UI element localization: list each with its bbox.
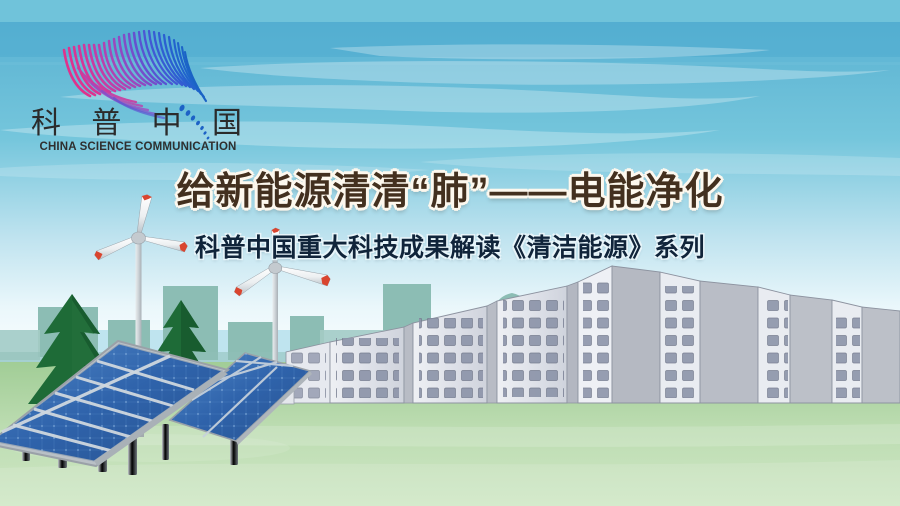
- apartment-building: [758, 287, 832, 403]
- apartment-building: [832, 300, 900, 403]
- page-subtitle: 科普中国重大科技成果解读《清洁能源》系列: [0, 228, 900, 264]
- apartment-building: [660, 272, 758, 403]
- brand-name-cn: 科 普 中 国: [18, 108, 258, 140]
- page-title: 给新能源清清“肺”——电能净化: [0, 160, 900, 215]
- apartment-building: [497, 282, 578, 403]
- building-side-face: [612, 266, 660, 403]
- headline-block: 给新能源清清“肺”——电能净化 科普中国重大科技成果解读《清洁能源》系列: [0, 160, 900, 264]
- apartment-building: [578, 266, 660, 403]
- poster-canvas: 科 普 中 国 CHINA SCIENCE COMMUNICATION 给新能源…: [0, 0, 900, 506]
- brand-logotype: 科 普 中 国 CHINA SCIENCE COMMUNICATION: [18, 108, 258, 153]
- brand-name-en: CHINA SCIENCE COMMUNICATION: [18, 141, 258, 153]
